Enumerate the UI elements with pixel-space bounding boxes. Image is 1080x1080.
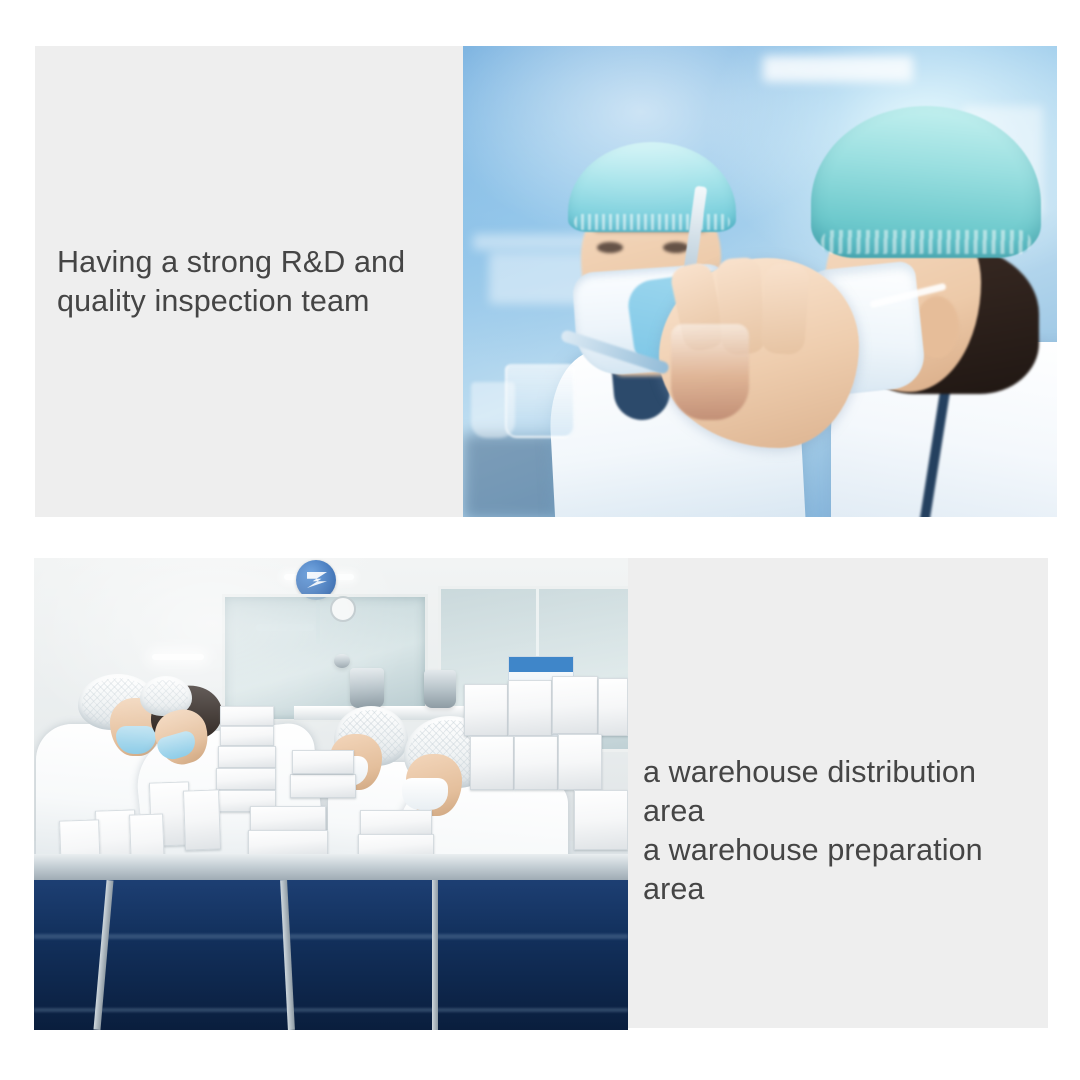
table-leg (432, 880, 438, 1030)
warehouse-packing-photo (34, 558, 628, 1030)
wall-clock-icon (330, 596, 356, 622)
carton (248, 830, 328, 856)
ceiling-lamp (152, 654, 204, 660)
carton (250, 806, 326, 832)
warehouse-window (222, 594, 428, 722)
carton (183, 789, 221, 850)
carton (552, 676, 598, 734)
carton (292, 750, 354, 774)
lab-ceiling-light (763, 56, 913, 82)
carton (598, 678, 628, 736)
lab-glass-vial (471, 382, 515, 438)
steel-container (424, 670, 456, 708)
finger (760, 263, 810, 356)
warehouse-floor (34, 880, 628, 1030)
carton (574, 790, 628, 850)
steel-container (350, 668, 384, 708)
carton (360, 810, 432, 836)
caption-rd-quality-team: Having a strong R&D and quality inspecti… (57, 243, 457, 321)
steel-work-table (34, 854, 628, 880)
caption-warehouse-areas: a warehouse distribution area a warehous… (643, 753, 1045, 909)
carton (470, 736, 514, 790)
carton (558, 734, 602, 790)
lab-quality-inspection-photo (463, 46, 1057, 517)
lab-beaker (505, 364, 575, 438)
carton (514, 736, 558, 790)
technician-left-eye-left (597, 242, 623, 253)
steel-lid (334, 654, 350, 668)
carton (290, 774, 356, 798)
carton (216, 768, 276, 790)
carton (464, 684, 508, 736)
worker-d-face-mask (402, 778, 448, 810)
floor-rail (34, 1008, 628, 1012)
carton (220, 706, 274, 726)
lab-flask (671, 324, 749, 420)
floor-rail (34, 934, 628, 939)
carton (508, 680, 552, 736)
page-canvas: Having a strong R&D and quality inspecti… (0, 0, 1080, 1080)
carton (220, 726, 274, 746)
carton (218, 746, 276, 768)
